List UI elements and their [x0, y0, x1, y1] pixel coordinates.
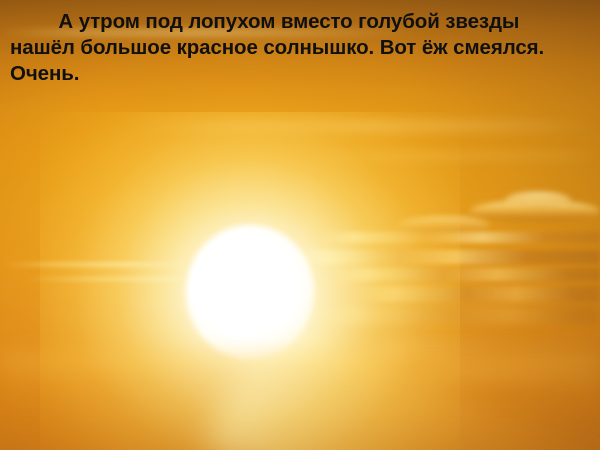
sunset-image-frame: А утром под лопухом вместо голубой звезд…	[0, 0, 600, 450]
caption-text: А утром под лопухом вместо голубой звезд…	[10, 9, 588, 87]
caption-overlay: А утром под лопухом вместо голубой звезд…	[0, 0, 600, 87]
